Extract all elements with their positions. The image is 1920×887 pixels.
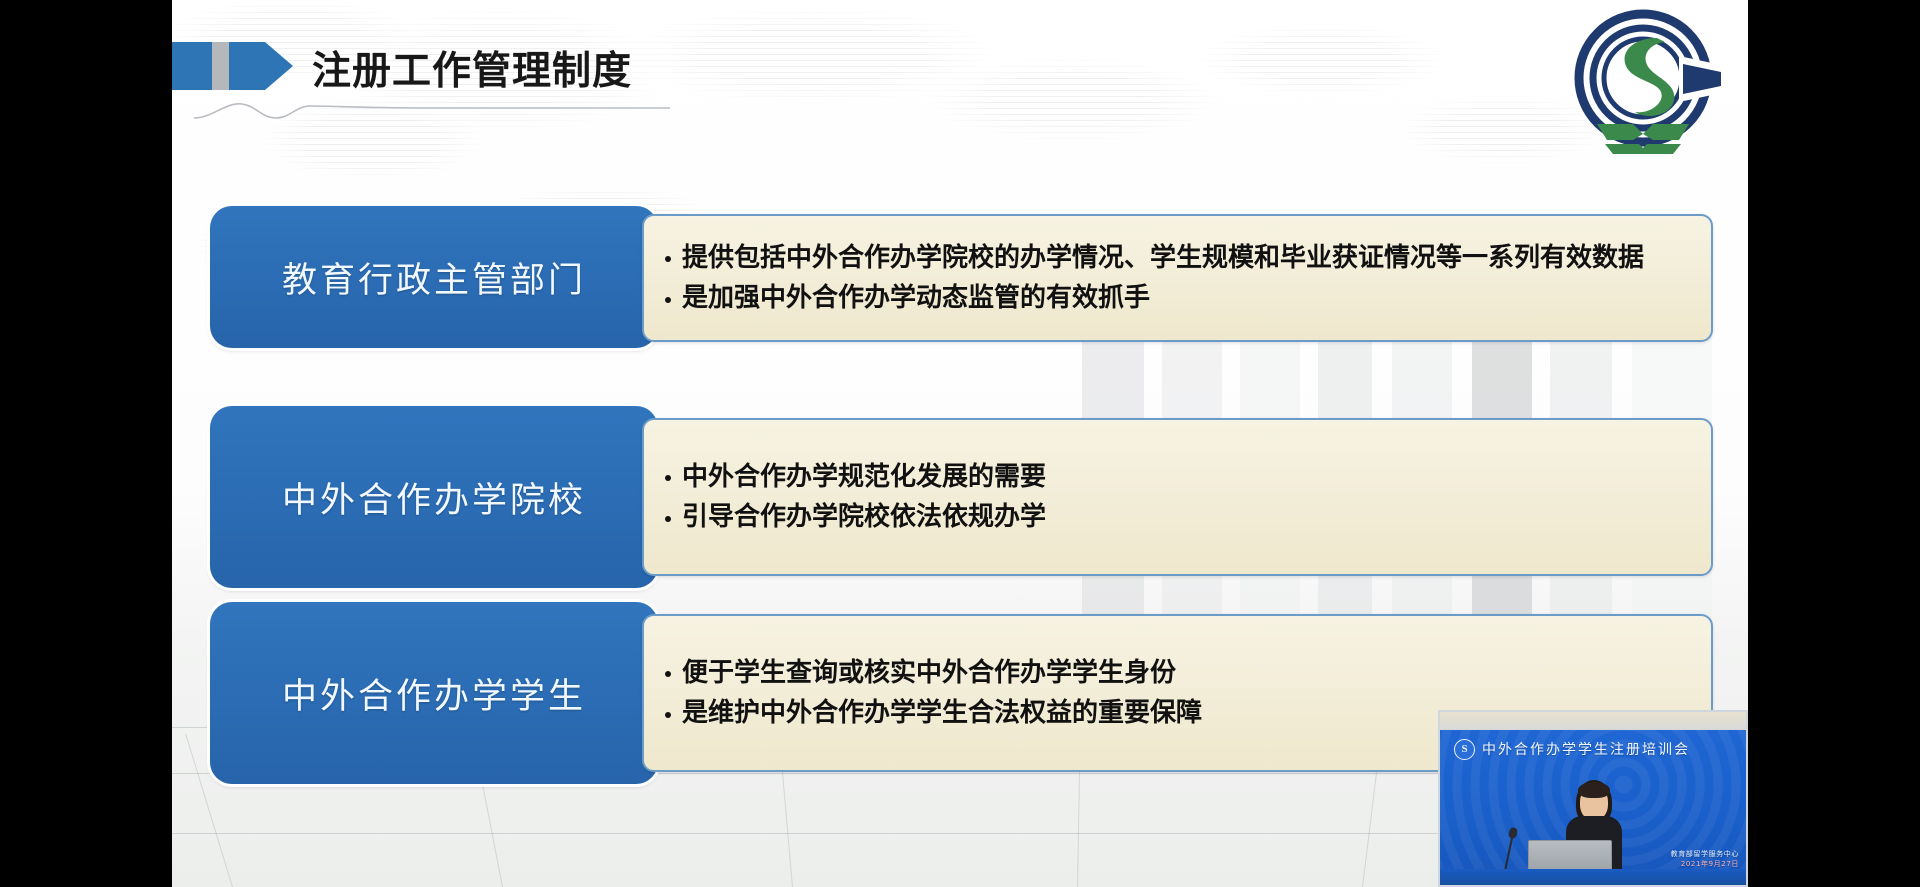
bullet-item: 中外合作办学规范化发展的需要 (662, 460, 1697, 494)
category-box-3[interactable]: 中外合作办学学生 (210, 602, 658, 784)
video-footer-date: 2021年9月27日 (1671, 859, 1739, 869)
video-footer-credits: 教育部留学服务中心 2021年9月27日 (1671, 849, 1739, 869)
header-bar-gray (212, 42, 229, 90)
video-top-edge (1440, 712, 1746, 730)
category-box-2-label: 中外合作办学院校 (282, 472, 586, 523)
presenter-video-overlay[interactable]: S 中外合作办学学生注册培训会 教育部留学服务中心 2021年9月27日 (1438, 710, 1748, 887)
header-squiggle-underline (192, 100, 672, 122)
presenter-fringe (1578, 782, 1610, 798)
header-bar-blue-left (172, 42, 212, 90)
bullet-item: 提供包括中外合作办学院校的办学情况、学生规模和毕业获证情况等一系列有效数据 (662, 241, 1697, 275)
video-footer-org: 教育部留学服务中心 (1671, 849, 1739, 859)
category-box-1-label: 教育行政主管部门 (282, 252, 586, 303)
category-box-1[interactable]: 教育行政主管部门 (210, 206, 658, 348)
category-box-2[interactable]: 中外合作办学院校 (210, 406, 658, 588)
page-title: 注册工作管理制度 (312, 40, 632, 96)
podium (1440, 869, 1746, 885)
header-bar-blue-right (229, 42, 265, 90)
banner-logo-icon: S (1454, 739, 1475, 760)
banner-title: 中外合作办学学生注册培训会 (1482, 739, 1690, 759)
category-box-3-label: 中外合作办学学生 (282, 668, 586, 719)
video-stage-banner: S 中外合作办学学生注册培训会 (1454, 738, 1738, 760)
bullet-item: 是加强中外合作办学动态监管的有效抓手 (662, 281, 1697, 315)
bullet-item: 引导合作办学院校依法依规办学 (662, 500, 1697, 534)
cscse-logo-icon (1561, 8, 1726, 158)
detail-panel-1: 提供包括中外合作办学院校的办学情况、学生规模和毕业获证情况等一系列有效数据 是加… (642, 214, 1713, 342)
screen-letterbox: 注册工作管理制度 教育行政主管部门 (0, 0, 1920, 887)
detail-panel-2: 中外合作办学规范化发展的需要 引导合作办学院校依法依规办学 (642, 418, 1713, 576)
bullet-item: 便于学生查询或核实中外合作办学学生身份 (662, 656, 1697, 690)
header-arrow-icon (265, 42, 293, 90)
presentation-slide: 注册工作管理制度 教育行政主管部门 (172, 0, 1748, 887)
